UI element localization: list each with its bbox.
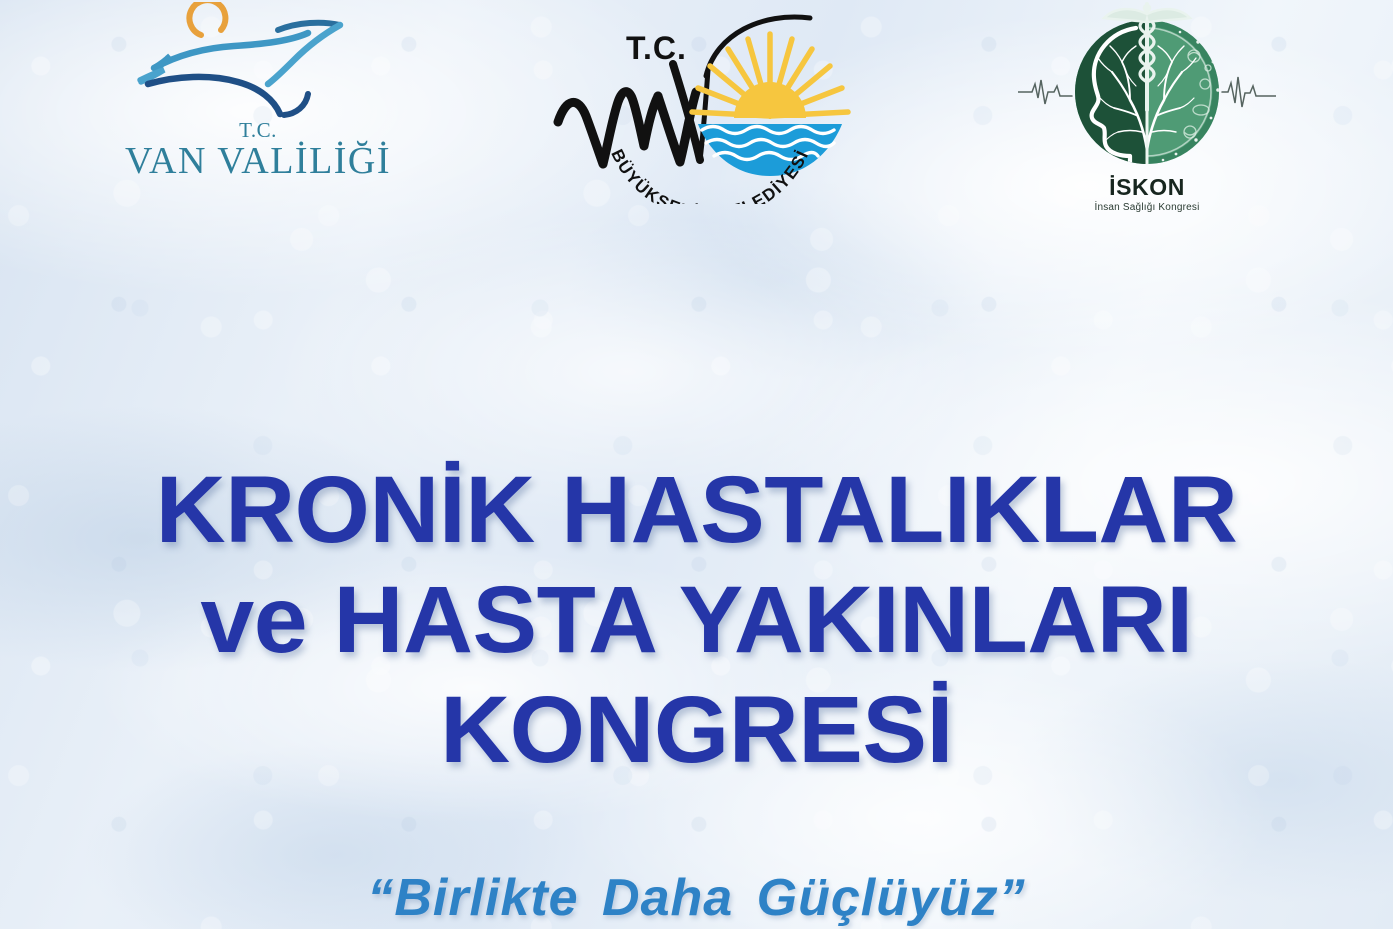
valilik-title: VAN VALİLİĞİ [118,142,398,182]
title-line-2-lead: ve [200,567,333,673]
iskon-logo: İSKON İnsan Sağlığı Kongresi [1018,0,1276,213]
van-valiligi-logo: T.C. VAN VALİLİĞİ [118,2,398,182]
title-line-2: ve HASTA YAKINLARI [0,565,1393,675]
valilik-tc-label: T.C. [118,120,398,141]
poster-tagline: “Birlikte Daha Güçlüyüz” [0,868,1393,928]
svg-text:T.C.: T.C. [626,30,687,66]
congress-poster: T.C. VAN VALİLİĞİ T.C. [0,0,1393,929]
title-line-3: KONGRESİ [0,675,1393,785]
poster-title: KRONİK HASTALIKLAR ve HASTA YAKINLARI KO… [0,455,1393,785]
belediye-sun-water-icon: T.C. [548,4,898,204]
iskon-circle-icon [1018,0,1276,178]
title-line-1: KRONİK HASTALIKLAR [0,455,1393,565]
iskon-subtitle: İnsan Sağlığı Kongresi [1018,203,1276,213]
title-line-2-rest: HASTA YAKINLARI [334,567,1193,673]
logo-row: T.C. VAN VALİLİĞİ T.C. [0,0,1393,230]
iskon-title: İSKON [1018,176,1276,199]
valilik-bird-sun-icon [118,2,398,122]
van-buyuksehir-belediyesi-logo: T.C. [548,4,898,204]
